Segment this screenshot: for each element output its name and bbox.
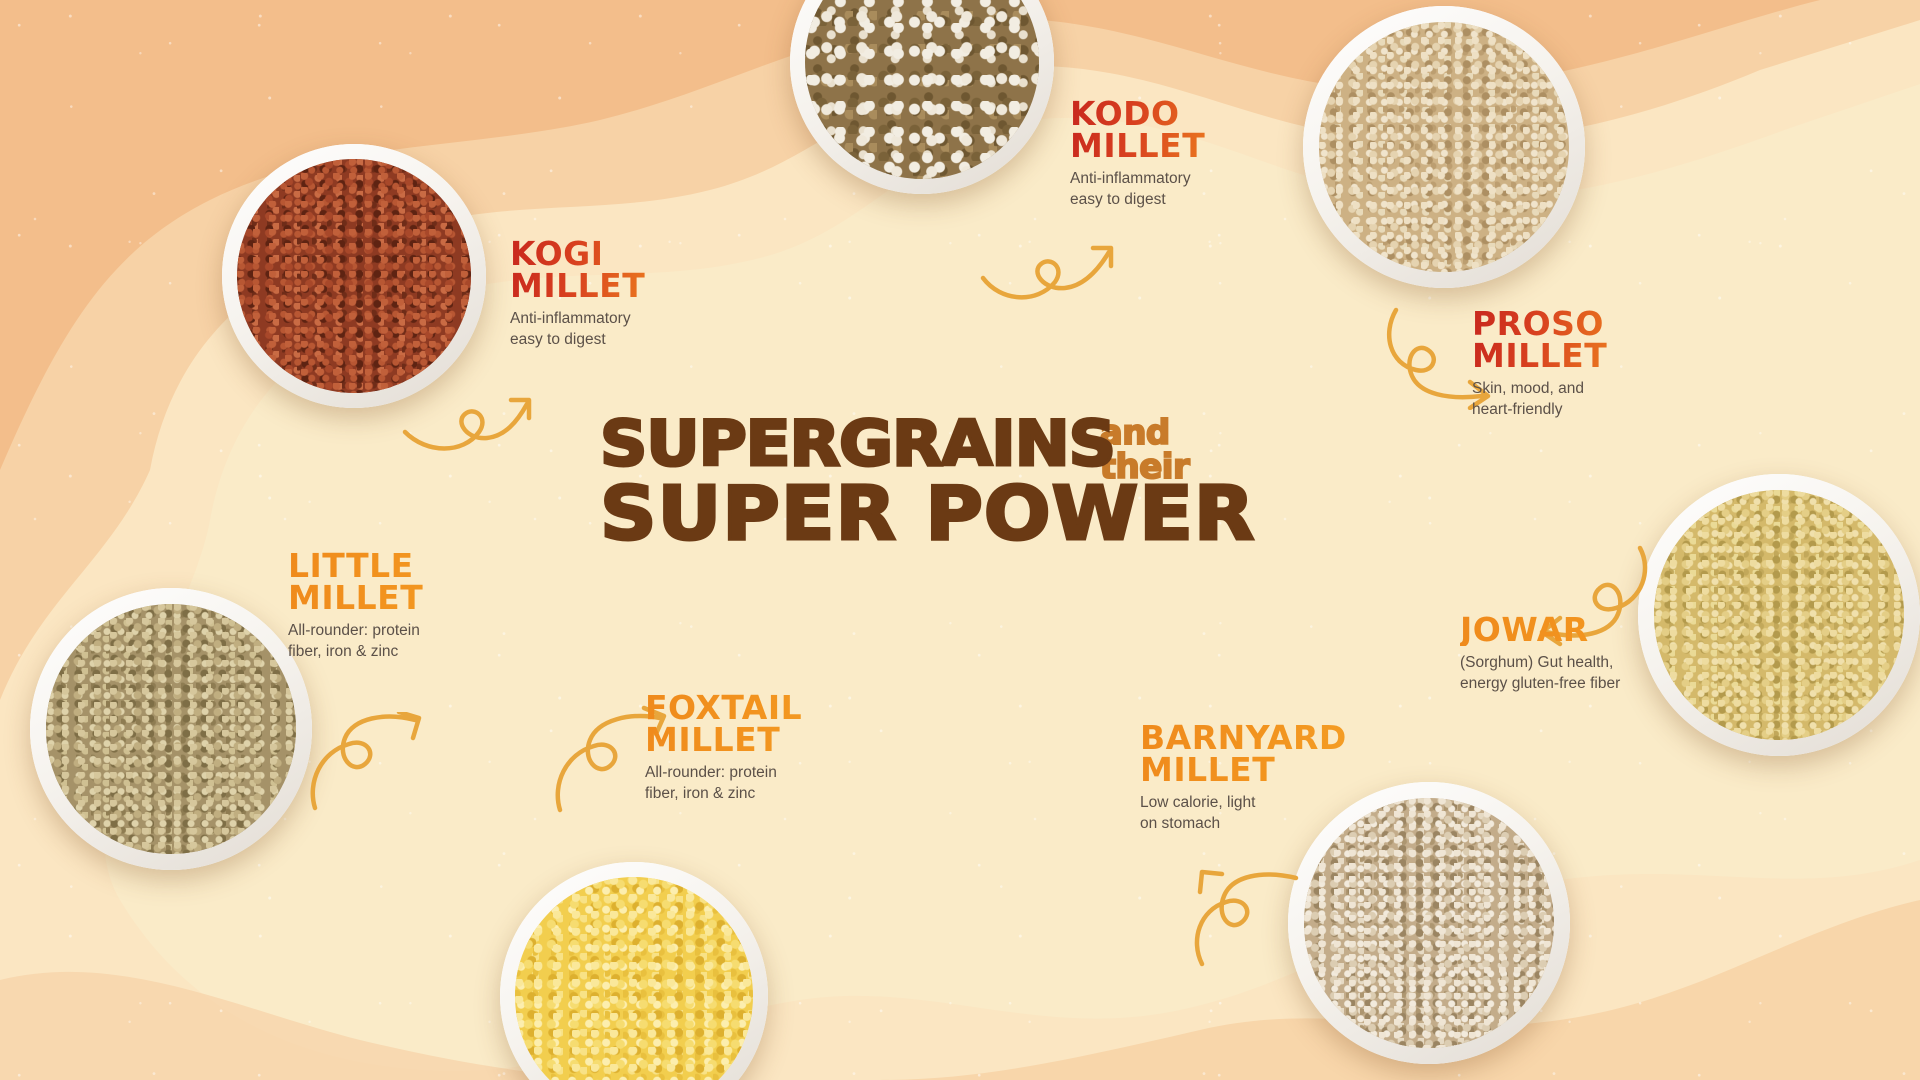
label-name-foxtail: FOXTAIL MILLET	[645, 692, 875, 756]
label-desc-little: All-rounder: protein fiber, iron & zinc	[288, 621, 518, 662]
bowl-little-millet[interactable]	[30, 588, 312, 870]
label-desc-kodo: Anti-inflammatory easy to digest	[1070, 169, 1300, 210]
bowl-foxtail-millet[interactable]	[500, 862, 768, 1080]
label-name-proso: PROSO MILLET	[1472, 308, 1702, 372]
label-barnyard-millet: BARNYARD MILLET Low calorie, light on st…	[1140, 722, 1390, 834]
label-name-barnyard: BARNYARD MILLET	[1140, 722, 1390, 786]
title-line-2: SUPER POWER	[600, 480, 1384, 548]
foxtail-millet-grains	[515, 877, 753, 1080]
label-kodo-millet: KODO MILLET Anti-inflammatory easy to di…	[1070, 98, 1300, 210]
infographic-poster: SUPERGRAINS and their SUPER POWER KODO M…	[0, 0, 1920, 1080]
label-jowar: JOWAR (Sorghum) Gut health, energy glute…	[1460, 614, 1710, 694]
label-desc-jowar: (Sorghum) Gut health, energy gluten-free…	[1460, 653, 1710, 694]
label-name-kodo: KODO MILLET	[1070, 98, 1300, 162]
kodo-millet-grains	[805, 0, 1039, 179]
barnyard-millet-grains	[1304, 798, 1554, 1048]
label-name-little: LITTLE MILLET	[288, 550, 518, 614]
label-desc-kogi: Anti-inflammatory easy to digest	[510, 309, 740, 350]
label-desc-proso: Skin, mood, and heart-friendly	[1472, 379, 1702, 420]
little-millet-grains	[46, 604, 296, 854]
label-desc-barnyard: Low calorie, light on stomach	[1140, 793, 1390, 834]
bowl-kodo-millet[interactable]	[790, 0, 1054, 194]
bowl-proso-millet[interactable]	[1303, 6, 1585, 288]
bowl-kogi-millet[interactable]	[222, 144, 486, 408]
kogi-millet-grains	[237, 159, 471, 393]
label-proso-millet: PROSO MILLET Skin, mood, and heart-frien…	[1472, 308, 1702, 420]
label-foxtail-millet: FOXTAIL MILLET All-rounder: protein fibe…	[645, 692, 875, 804]
label-name-kogi: KOGI MILLET	[510, 238, 740, 302]
label-desc-foxtail: All-rounder: protein fiber, iron & zinc	[645, 763, 875, 804]
label-little-millet: LITTLE MILLET All-rounder: protein fiber…	[288, 550, 518, 662]
proso-millet-grains	[1319, 22, 1569, 272]
label-kogi-millet: KOGI MILLET Anti-inflammatory easy to di…	[510, 238, 740, 350]
title-line-1: SUPERGRAINS	[600, 415, 1115, 472]
page-title: SUPERGRAINS and their SUPER POWER	[600, 415, 1340, 548]
label-name-jowar: JOWAR	[1460, 614, 1710, 646]
